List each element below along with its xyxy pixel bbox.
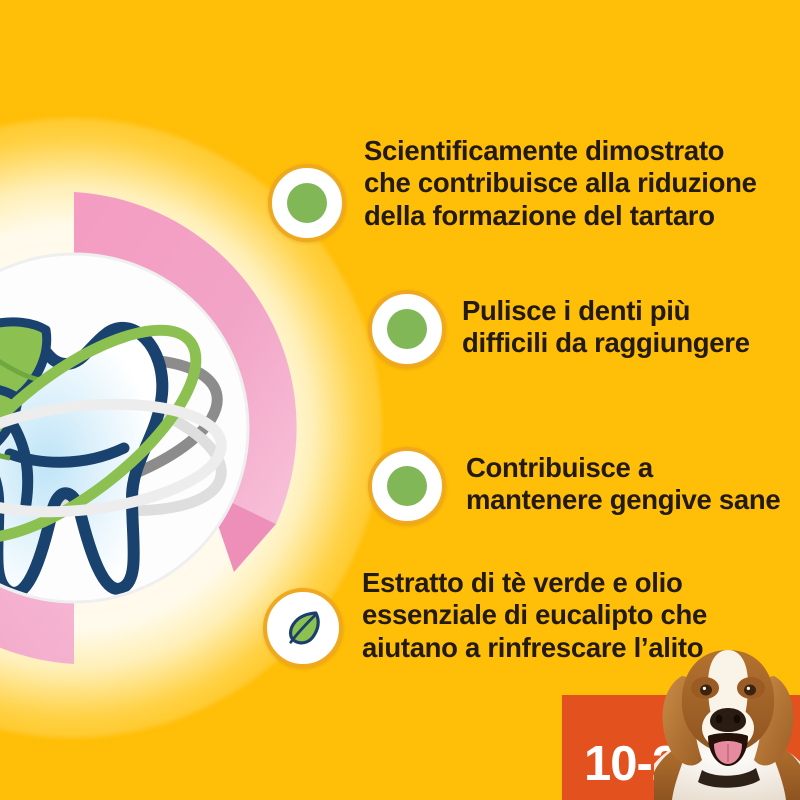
benefit-text-healthy-gums: Contribuisce a mantenere gengive sane bbox=[466, 452, 780, 517]
benefit-text-hard-to-reach-teeth: Pulisce i denti più difficili da raggiun… bbox=[462, 295, 750, 360]
beagle-dog-photo bbox=[648, 632, 800, 800]
bullet-marker-fresh-breath bbox=[263, 588, 343, 668]
bullet-marker-hard-to-reach-teeth bbox=[368, 290, 446, 368]
product-benefits-infographic: Scientificamente dimostrato che contribu… bbox=[0, 0, 800, 800]
bullet-marker-tartar bbox=[268, 164, 346, 242]
dog-eye-right bbox=[744, 685, 756, 696]
green-dot-icon bbox=[387, 309, 428, 350]
dog-eye-left bbox=[700, 685, 712, 696]
green-dot-icon bbox=[287, 183, 328, 224]
dog-nose bbox=[710, 708, 746, 732]
green-dot-icon bbox=[387, 466, 428, 507]
bullet-marker-healthy-gums bbox=[368, 447, 446, 525]
leaf-icon bbox=[281, 606, 326, 651]
benefit-text-tartar: Scientificamente dimostrato che contribu… bbox=[364, 135, 757, 232]
